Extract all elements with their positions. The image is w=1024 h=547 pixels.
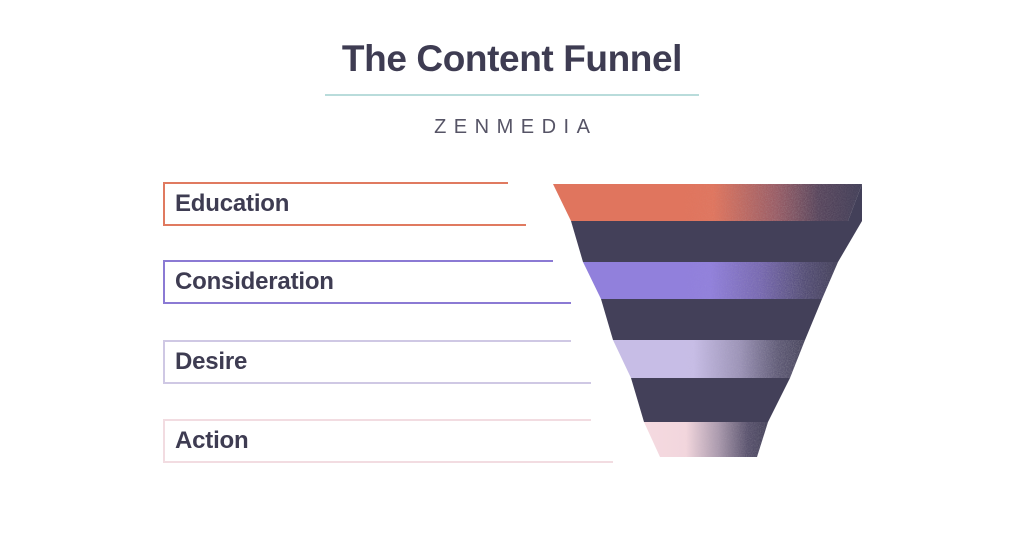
poster-canvas: The Content Funnel ZENMEDIA Education Co… [0,0,1024,547]
stage-label-desire[interactable]: Desire [163,340,571,384]
stage-label-education-text: Education [175,190,289,218]
stage-label-action[interactable]: Action [163,419,591,463]
title-divider [325,94,699,96]
stage-label-consideration-text: Consideration [175,268,334,296]
stage-label-consideration[interactable]: Consideration [163,260,553,304]
page-title: The Content Funnel [0,36,1024,82]
funnel-connector-1 [571,221,862,262]
brand-name: ZENMEDIA [0,113,1024,141]
funnel-connector-3 [631,378,790,422]
stage-label-desire-text: Desire [175,348,247,376]
stage-label-education[interactable]: Education [163,182,508,226]
stage-label-action-text: Action [175,427,248,455]
funnel-connector-2 [601,299,822,340]
funnel-connectors [571,221,862,422]
stage-rule-extension-education [508,224,526,226]
funnel-graphic [530,170,890,470]
